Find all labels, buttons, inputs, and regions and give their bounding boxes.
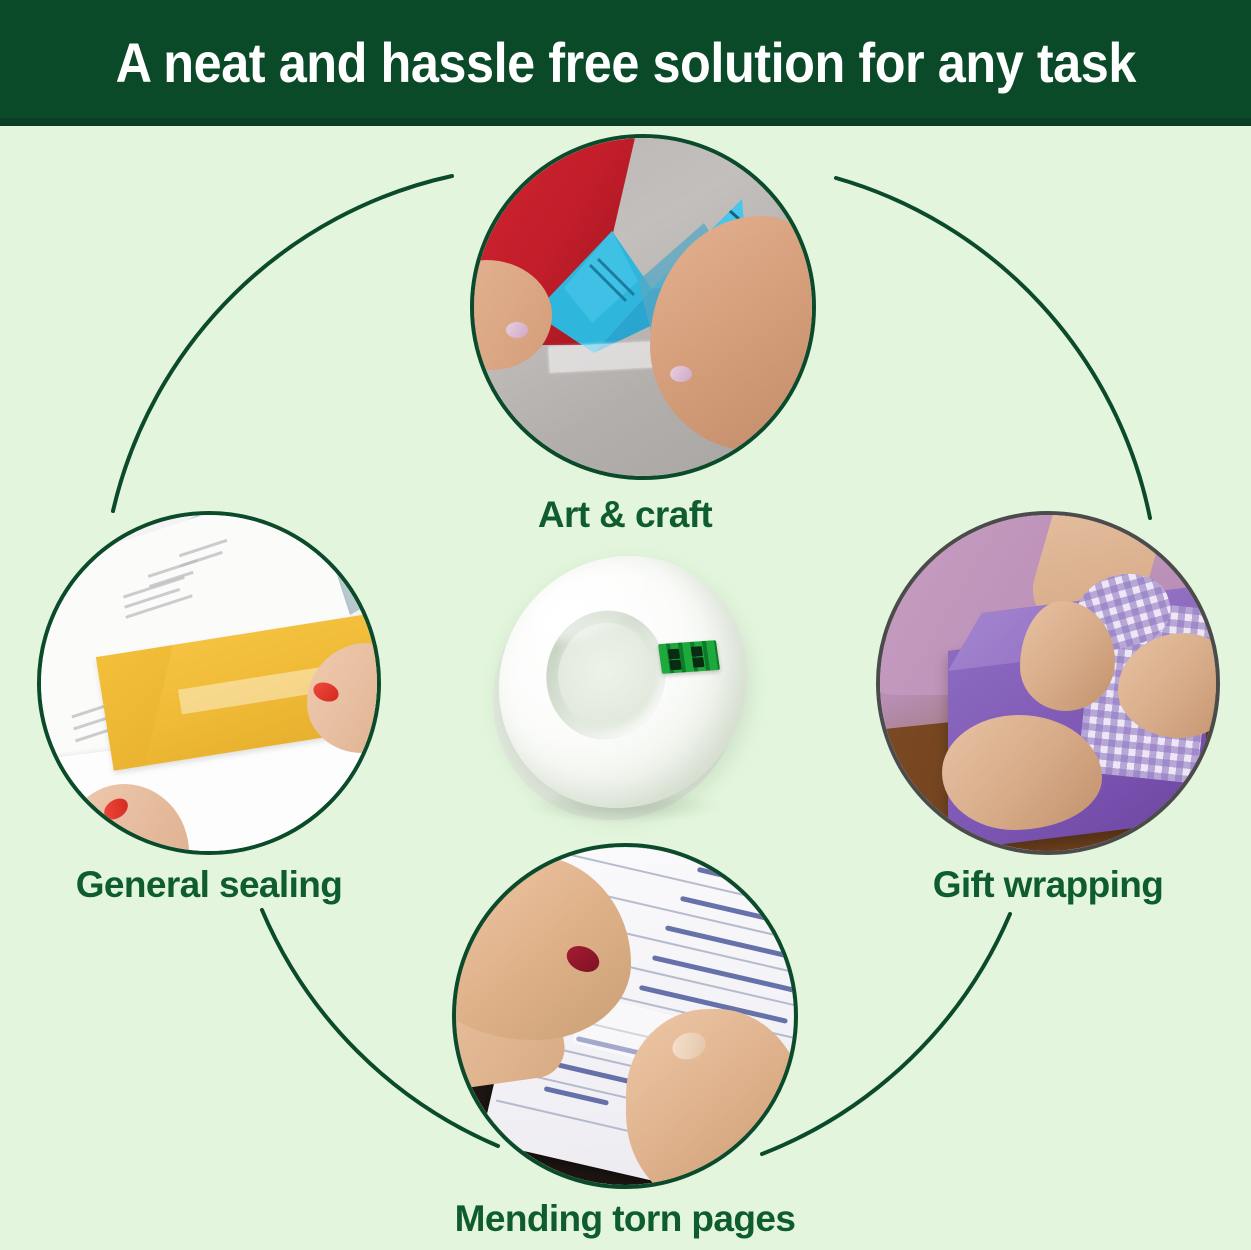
infographic-stage: Art & craft (0, 126, 1251, 1250)
mending-right-hand (626, 1009, 794, 1185)
header-banner: A neat and hassle free solution for any … (0, 0, 1251, 126)
page-title: A neat and hassle free solution for any … (115, 35, 1135, 91)
banner-underline (0, 118, 1251, 126)
mending-torn-pages-photo (452, 843, 798, 1189)
arc-art-to-gift (836, 178, 1150, 518)
art-craft-left-nail (506, 322, 528, 338)
general-sealing-photo (37, 511, 381, 855)
general-sealing-lower-nail (100, 794, 132, 824)
art-craft-right-nail (670, 366, 692, 382)
node-label-gift-wrapping: Gift wrapping (748, 864, 1251, 906)
node-label-art-craft: Art & craft (325, 494, 925, 536)
mending-left-nail (563, 941, 604, 977)
node-label-mending-torn-pages: Mending torn pages (325, 1198, 925, 1240)
center-tape-roll (488, 539, 768, 849)
art-craft-photo (470, 134, 816, 480)
arc-mending-to-gift (762, 914, 1010, 1154)
arc-art-to-sealing (113, 176, 452, 511)
general-sealing-right-nail (311, 679, 342, 705)
mending-right-thumbnail (669, 1028, 709, 1063)
tape-roll-green-tab (658, 640, 720, 674)
node-label-general-sealing: General sealing (0, 864, 509, 906)
general-sealing-envelope-flap (96, 645, 191, 771)
gift-wrapping-photo (876, 511, 1220, 855)
